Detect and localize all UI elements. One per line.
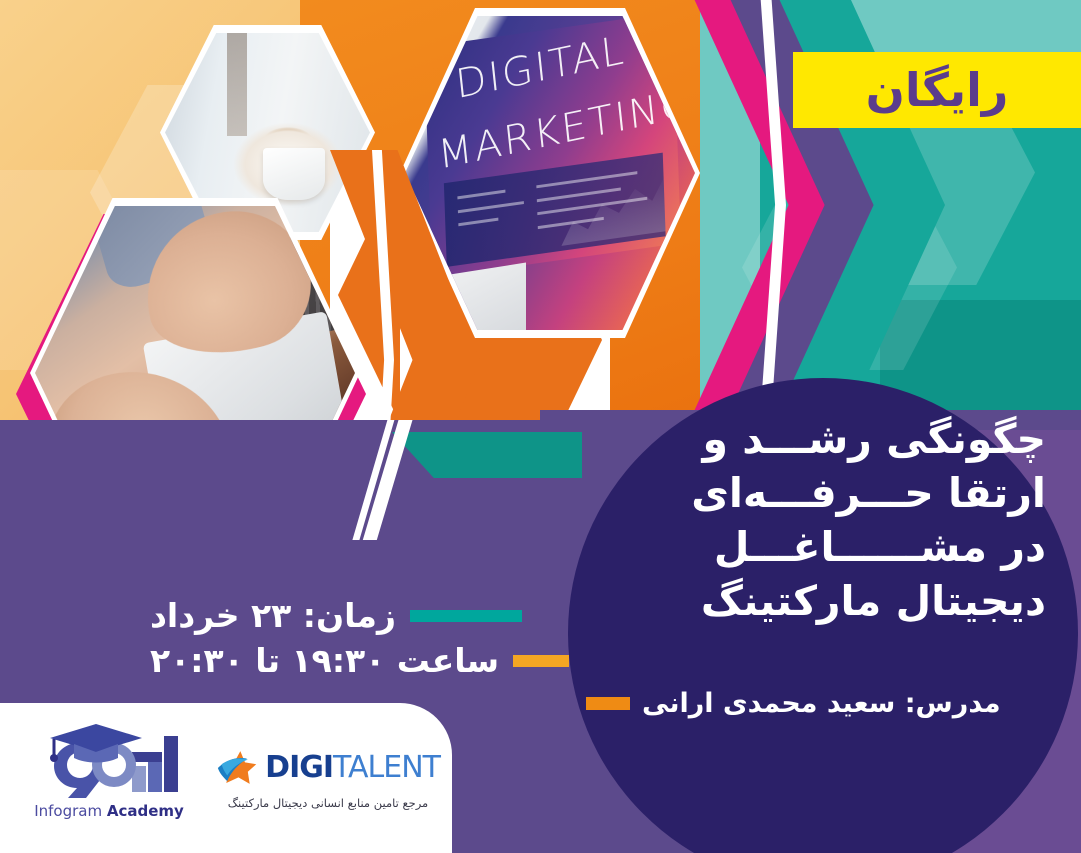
infogram-academy-logo: Infogram Academy	[34, 722, 194, 832]
infogram-academy-wordmark: Infogram Academy	[34, 802, 184, 820]
schedule-time-label: ساعت ۱۹:۳۰ تا ۲۰:۳۰	[150, 641, 499, 680]
schedule-time-dash-icon	[513, 655, 569, 667]
poster-canvas: DIGITAL MARKETING	[0, 0, 1081, 853]
digitalent-name-light: TALENT	[333, 750, 440, 785]
laptop-screen: DIGITAL MARKETING	[424, 16, 681, 278]
instructor-row: مدرس: سعید محمدی ارانی	[586, 688, 1046, 719]
infogram-academy-name-light: Infogram	[34, 802, 102, 820]
headline-line-1: چگونگی رشـــد و	[586, 412, 1046, 466]
schedule-date-dash-icon	[410, 610, 522, 622]
page-title: چگونگی رشـــد و ارتقا حـــرفـــه‌ای در م…	[586, 412, 1046, 628]
schedule-time-row: ساعت ۱۹:۳۰ تا ۲۰:۳۰	[150, 641, 570, 680]
schedule-date-row: زمان: ۲۳ خرداد	[150, 596, 570, 635]
digitalent-logo: DIGITALENT مرجع تامین منابع انسانی دیجیت…	[216, 748, 440, 830]
free-badge-label: رایگان	[866, 67, 1009, 113]
headline-line-2: ارتقا حـــرفـــه‌ای	[586, 466, 1046, 520]
headline-line-4: دیجیتال مارکتینگ	[586, 574, 1046, 628]
screen-word-digital: DIGITAL	[453, 27, 627, 108]
graduation-cap-chart-icon	[44, 722, 194, 800]
star-arrow-icon	[216, 748, 257, 788]
digitalent-logo-row: DIGITALENT	[216, 748, 440, 788]
digitalent-wordmark: DIGITALENT	[265, 753, 440, 783]
instructor-label: مدرس: سعید محمدی ارانی	[642, 688, 1001, 719]
digitalent-name-bold: DIGI	[265, 750, 333, 785]
schedule-block: زمان: ۲۳ خرداد ساعت ۱۹:۳۰ تا ۲۰:۳۰	[150, 596, 570, 686]
instructor-dash-icon	[586, 697, 630, 710]
digitalent-tagline: مرجع تامین منابع انسانی دیجیتال مارکتینگ	[216, 796, 440, 810]
infogram-academy-name-bold: Academy	[107, 802, 184, 820]
schedule-date-label: زمان: ۲۳ خرداد	[150, 596, 396, 635]
headline-line-3: در مشــــــاغـــل	[586, 520, 1046, 574]
infogram-academy-mark	[44, 722, 194, 800]
free-badge: رایگان	[793, 52, 1081, 128]
